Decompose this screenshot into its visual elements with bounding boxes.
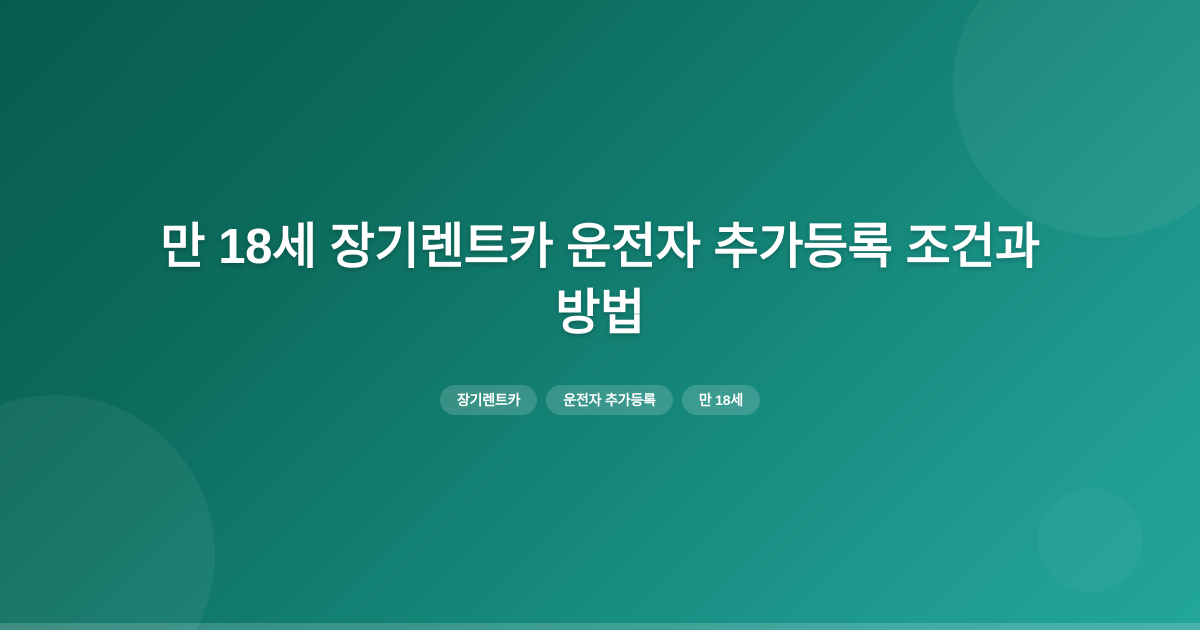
bottom-accent-strip <box>0 623 1200 630</box>
page-title-text: 만 18세 장기렌트카 운전자 추가등록 조건과 방법 <box>160 220 1039 340</box>
tag-chip-1[interactable]: 장기렌트카 <box>440 385 537 415</box>
tag-chip-2[interactable]: 운전자 추가등록 <box>546 385 672 415</box>
page-title: 만 18세 장기렌트카 운전자 추가등록 조건과 방법 <box>125 215 1075 346</box>
tag-chip-3[interactable]: 만 18세 <box>682 385 760 415</box>
tag-list: 장기렌트카 운전자 추가등록 만 18세 <box>440 385 760 415</box>
og-share-card: 만 18세 장기렌트카 운전자 추가등록 조건과 방법 장기렌트카 운전자 추가… <box>0 0 1200 630</box>
card-content: 만 18세 장기렌트카 운전자 추가등록 조건과 방법 장기렌트카 운전자 추가… <box>0 0 1200 630</box>
